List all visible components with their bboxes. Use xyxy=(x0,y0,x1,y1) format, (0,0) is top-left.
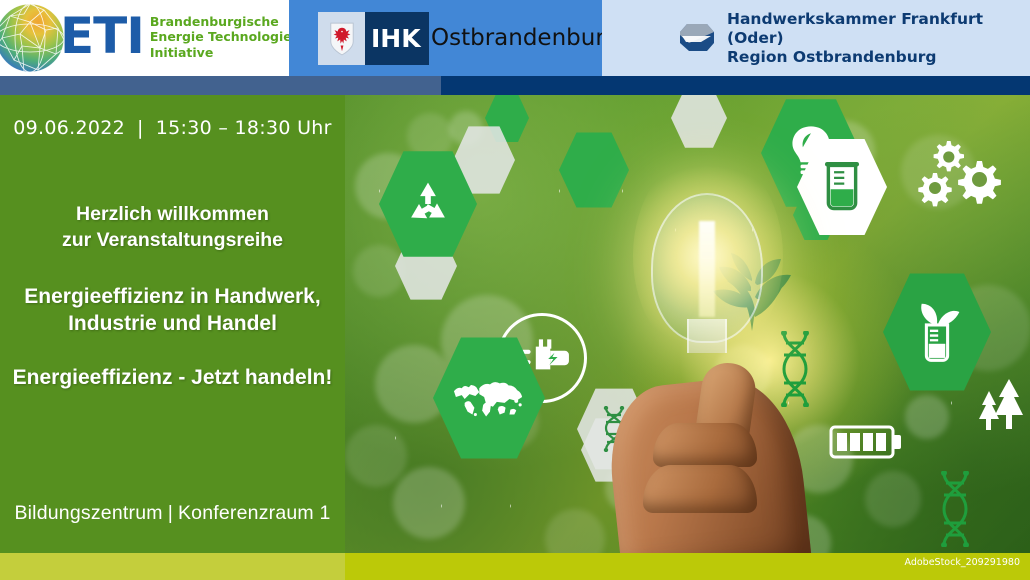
ihk-name: Ostbrandenburg xyxy=(431,0,619,76)
bokeh-circle xyxy=(865,471,921,527)
header-divider-bar xyxy=(0,76,1030,95)
welcome-line-1: Herzlich willkommen xyxy=(0,201,345,227)
series-line-1: Energieeffizienz in Handwerk, xyxy=(0,283,345,310)
event-info-panel: 09.06.2022|15:30 – 18:30 Uhr Herzlich wi… xyxy=(0,95,345,553)
pine-trees-icon xyxy=(971,377,1030,439)
eti-subtitle-line-2: Energie Technologie xyxy=(150,29,292,45)
eti-subtitle-line-3: Initiative xyxy=(150,45,292,61)
series-title: Energieeffizienz in Handwerk, Industrie … xyxy=(0,283,345,337)
event-date: 09.06.2022 xyxy=(13,117,125,139)
finger xyxy=(643,465,757,513)
eti-abbr: ETI xyxy=(60,5,144,67)
series-line-2: Industrie und Handel xyxy=(0,310,345,337)
logo-header: ETI Brandenburgische Energie Technologie… xyxy=(0,0,1030,76)
ihk-logo-mark: IHK xyxy=(318,12,429,65)
hwk-name-line-2: Region Ostbrandenburg xyxy=(727,48,1030,67)
dna-helix-icon xyxy=(935,471,989,547)
handwerkskammer-mark-icon xyxy=(677,21,715,55)
welcome-line-2: zur Veranstaltungsreihe xyxy=(0,227,345,253)
eti-logo-panel: ETI Brandenburgische Energie Technologie… xyxy=(0,0,289,76)
finger xyxy=(653,423,757,467)
event-poster: ETI Brandenburgische Energie Technologie… xyxy=(0,0,1030,580)
eti-subtitle-line-1: Brandenburgische xyxy=(150,14,292,30)
bottom-strip-right: AdobeStock_209291980 xyxy=(345,553,1030,580)
hero-photo xyxy=(345,95,1030,553)
event-time: 15:30 – 18:30 Uhr xyxy=(156,117,332,139)
event-tagline: Energieeffizienz - Jetzt handeln! xyxy=(0,364,345,391)
bulb-filament xyxy=(699,221,715,317)
bokeh-circle xyxy=(905,395,949,439)
poster-body: 09.06.2022|15:30 – 18:30 Uhr Herzlich wi… xyxy=(0,95,1030,553)
hwk-name: Handwerkskammer Frankfurt (Oder) Region … xyxy=(727,0,1030,76)
hwk-name-line-1: Handwerkskammer Frankfurt (Oder) xyxy=(727,10,1030,48)
datetime-separator: | xyxy=(125,117,156,139)
hand-holding-light-bulb xyxy=(613,341,823,553)
ihk-logo-panel: IHK Ostbrandenburg xyxy=(289,0,602,76)
bokeh-circle xyxy=(353,245,405,297)
event-venue: Bildungszentrum|Konferenzraum 1 xyxy=(0,502,345,525)
bottom-accent-strip: AdobeStock_209291980 xyxy=(0,553,1030,580)
ihk-abbr: IHK xyxy=(365,12,429,65)
event-headlines: Herzlich willkommen zur Veranstaltungsre… xyxy=(0,201,345,391)
event-datetime: 09.06.2022|15:30 – 18:30 Uhr xyxy=(0,117,345,139)
venue-building: Bildungszentrum xyxy=(14,502,162,524)
gears-icon xyxy=(911,135,1007,211)
divider-left-segment xyxy=(0,76,441,95)
divider-right-segment xyxy=(441,76,1030,95)
venue-room: Konferenzraum 1 xyxy=(178,502,331,524)
photo-credit: AdobeStock_209291980 xyxy=(905,557,1021,568)
venue-separator: | xyxy=(163,502,178,524)
bulb-neck xyxy=(687,319,727,353)
welcome-heading: Herzlich willkommen zur Veranstaltungsre… xyxy=(0,201,345,253)
eti-subtitle: Brandenburgische Energie Technologie Ini… xyxy=(150,12,292,61)
hwk-logo-panel: Handwerkskammer Frankfurt (Oder) Region … xyxy=(602,0,1030,76)
eti-wordmark: ETI Brandenburgische Energie Technologie… xyxy=(60,5,292,67)
brandenburg-eagle-crest-icon xyxy=(318,12,365,65)
battery-icon xyxy=(829,417,907,467)
bottom-strip-left xyxy=(0,553,345,580)
